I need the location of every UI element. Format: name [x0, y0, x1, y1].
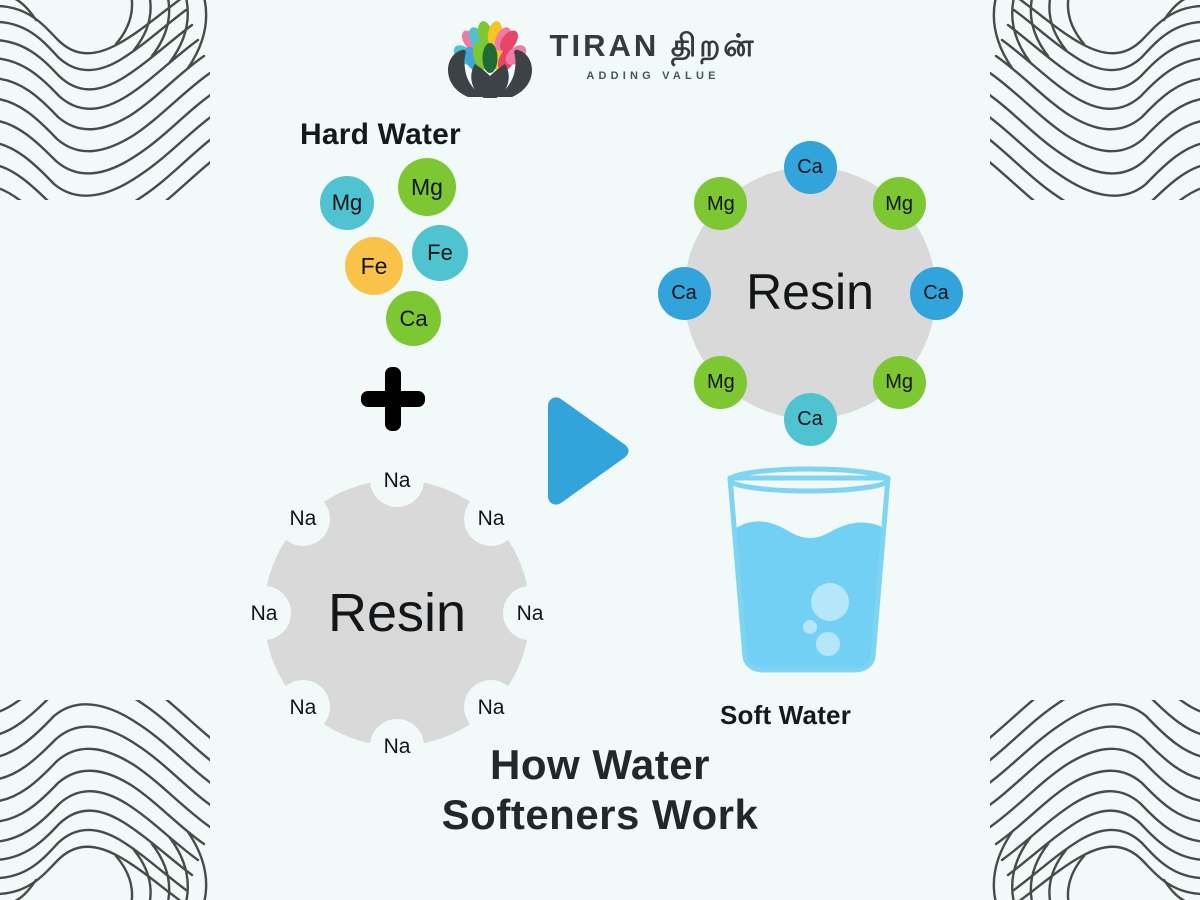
- page-title: How Water Softeners Work: [0, 740, 1200, 841]
- hard-water-ion-fe: Fe: [345, 237, 403, 295]
- bubble-large: [811, 583, 849, 621]
- sodium-ion-label: Na: [280, 496, 326, 542]
- sodium-ion-label: Na: [468, 496, 514, 542]
- logo-tagline: ADDING VALUE: [586, 70, 719, 82]
- hands-holding-tree-logo-icon: [444, 14, 536, 98]
- resin-ion-mg: Mg: [873, 356, 926, 409]
- page-title-line-1: How Water: [0, 740, 1200, 790]
- resin-bead-loaded: Resin CaMgMgCaCaMgMgCa: [640, 123, 980, 463]
- sodium-ion-label: Na: [468, 684, 514, 730]
- bubble-small: [803, 620, 817, 634]
- hard-water-ion-mg: Mg: [398, 158, 456, 216]
- hard-water-ion-mg: Mg: [320, 176, 374, 230]
- plus-sign-icon: [361, 367, 425, 431]
- resin-ion-ca: Ca: [658, 267, 711, 320]
- hard-water-label: Hard Water: [300, 118, 461, 152]
- page-title-line-2: Softeners Work: [0, 790, 1200, 840]
- resin-bead-sodium: Resin NaNaNaNaNaNaNaNa: [232, 448, 562, 778]
- logo-wordmark: TIRAN திறன்: [550, 30, 757, 63]
- resin-ion-mg: Mg: [694, 356, 747, 409]
- sodium-ion-label: Na: [374, 457, 420, 503]
- bubble-medium: [816, 632, 840, 656]
- resin-ion-ca: Ca: [784, 141, 837, 194]
- resin-ion-ca: Ca: [784, 393, 837, 446]
- sodium-ion-label: Na: [280, 684, 326, 730]
- resin-ion-mg: Mg: [873, 177, 926, 230]
- sodium-ion-label: Na: [507, 590, 553, 636]
- infographic-canvas: TIRAN திறன் ADDING VALUE Hard Water MgMg…: [0, 0, 1200, 900]
- resin-ion-ca: Ca: [910, 267, 963, 320]
- soft-water-label: Soft Water: [720, 700, 851, 731]
- soft-water-glass-icon: [718, 466, 900, 678]
- hard-water-ion-ca: Ca: [386, 291, 441, 346]
- hard-water-ion-fe: Fe: [412, 225, 468, 281]
- sodium-ion-label: Na: [241, 590, 287, 636]
- brand-logo: TIRAN திறன் ADDING VALUE: [0, 14, 1200, 98]
- plus-vertical-bar: [385, 367, 401, 431]
